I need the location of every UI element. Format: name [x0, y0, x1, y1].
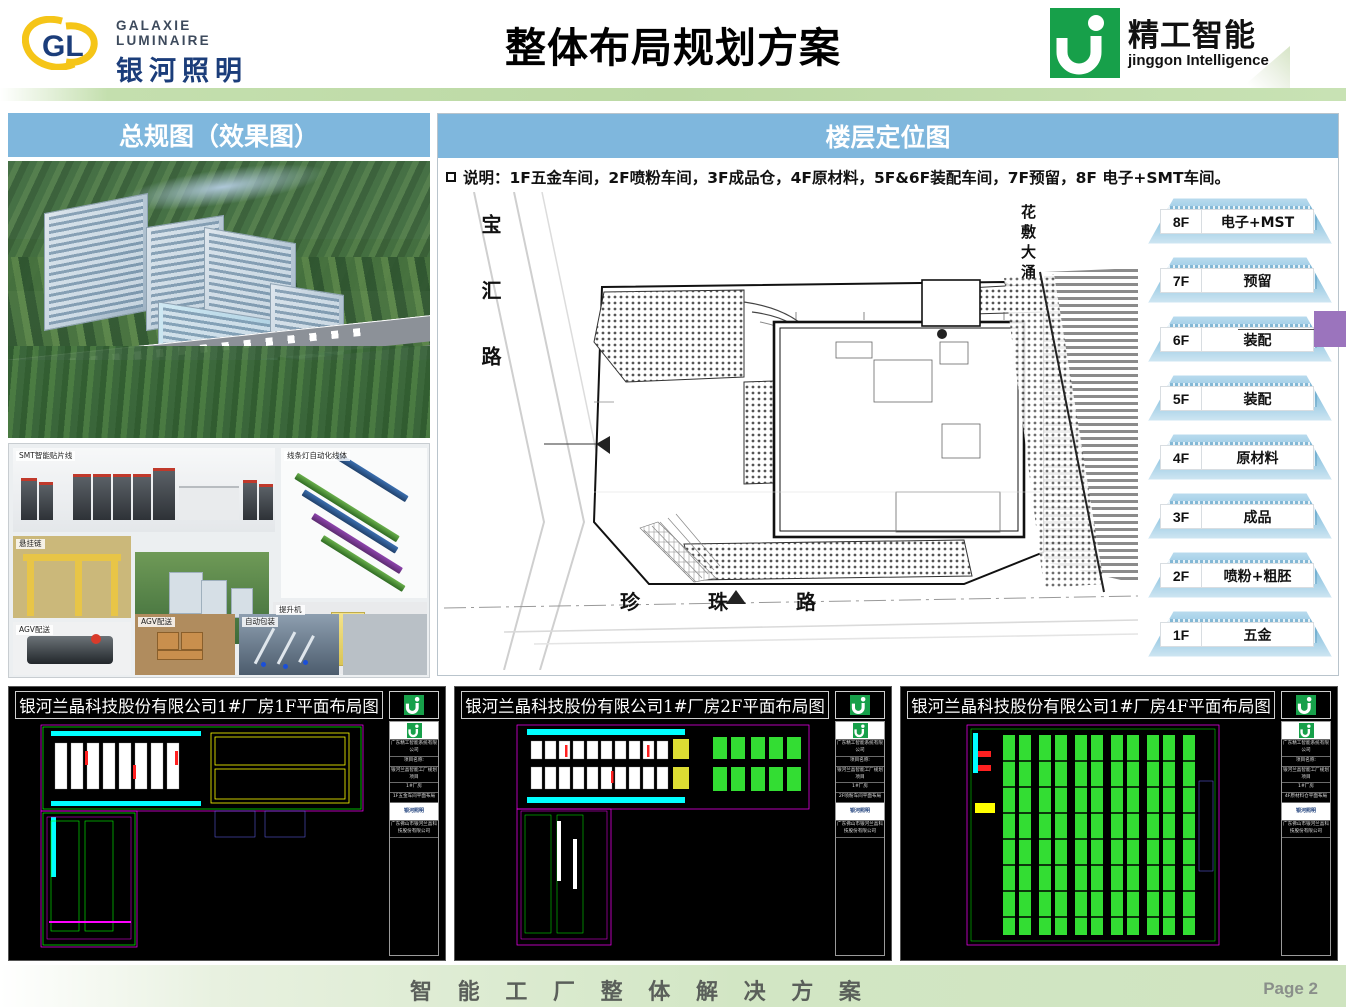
titleblock-owner-logo: 银河照明 — [836, 803, 884, 821]
titleblock-owner-cn: 银河照明 — [850, 808, 870, 816]
floor-level: 8F — [1160, 209, 1202, 234]
floor-usage-note-text: 说明：1F五金车间，2F喷粉车间，3F成品仓，4F原材料，5F&6F装配车间，7… — [463, 169, 1230, 187]
jinggon-logo-cn: 精工智能 — [1128, 10, 1256, 55]
cad-title: 银河兰晶科技股份有限公司1#厂房2F平面布局图 — [461, 691, 829, 719]
titleblock-owner-cn: 银河照明 — [1296, 808, 1316, 816]
overall-plan-heading: 总规图（效果图） — [8, 113, 430, 157]
titleblock-company: 广东精工智能系统有限公司 — [836, 740, 884, 757]
cad-canvas — [907, 721, 1277, 956]
collage-item-agv-vehicle: AGV配送 — [13, 622, 131, 675]
jinggon-j-icon — [404, 695, 424, 715]
slide-footer: 智 能 工 厂 整 体 解 决 方 案 Page 2 — [0, 965, 1346, 1007]
floor-use: 装配 — [1202, 327, 1314, 352]
callout-box: 2#厂房各层功能定位 — [1314, 311, 1346, 347]
callout-leader-line — [1238, 329, 1316, 330]
titleblock-owner-logo: 银河照明 — [1282, 803, 1330, 821]
cad-drawing-1f[interactable]: 银河兰晶科技股份有限公司1#厂房1F平面布局图 广东精工智能系统有限公司 项目名… — [8, 686, 446, 961]
titleblock-project: 银河兰晶智能工厂规划项目 — [836, 767, 884, 784]
floor-row-1f[interactable]: 1F 五金 — [1144, 605, 1336, 663]
collage-item-equipment — [343, 614, 427, 675]
titleblock-owner-logo: 银河照明 — [390, 803, 438, 821]
titleblock-project: 银河兰晶智能工厂规划项目 — [390, 767, 438, 784]
floor-row-2f[interactable]: 2F 喷粉+粗胚 — [1144, 546, 1336, 604]
titleblock-project-label: 项目名称: — [1282, 757, 1330, 767]
collage-item-strip-light-line: 线条灯自动化线体 — [281, 448, 427, 598]
square-bullet-icon — [446, 172, 456, 182]
collage-item-auto-packaging: 自动包装 — [239, 614, 339, 675]
cad-title: 银河兰晶科技股份有限公司1#厂房4F平面布局图 — [907, 691, 1275, 719]
titleblock-project-label: 项目名称: — [836, 757, 884, 767]
titleblock-owner-full: 广东佛山市银河兰晶科技股份有限公司 — [836, 821, 884, 838]
header-divider — [0, 88, 1346, 101]
street-label-baohui: 宝汇路 — [476, 214, 505, 412]
titleblock-company: 广东精工智能系统有限公司 — [1282, 740, 1330, 757]
collage-label: AGV配送 — [138, 617, 175, 627]
slide-header: GL GALAXIE LUMINAIRE 银河照明 整体布局规划方案 精工智能 … — [0, 0, 1346, 88]
floor-usage-note: 说明：1F五金车间，2F喷粉车间，3F成品仓，4F原材料，5F&6F装配车间，7… — [446, 166, 1336, 188]
collage-item-smt-line: SMT智能贴片线 — [13, 448, 275, 532]
cad-titleblock: 广东精工智能系统有限公司 项目名称: 银河兰晶智能工厂规划项目 1#厂房 1F五… — [389, 721, 439, 956]
titleblock-owner-cn: 银河照明 — [404, 808, 424, 816]
cad-canvas — [15, 721, 385, 956]
floor-level: 2F — [1160, 563, 1202, 588]
titleblock-drawing: 4F原材料仓平面布局 — [1282, 793, 1330, 803]
collage-label: AGV配送 — [16, 625, 53, 635]
collage-label: 悬挂链 — [16, 539, 45, 549]
floor-use: 成品 — [1202, 504, 1314, 529]
cad-drawings-row: 银河兰晶科技股份有限公司1#厂房1F平面布局图 广东精工智能系统有限公司 项目名… — [8, 686, 1339, 961]
floor-positioning-panel: 楼层定位图 说明：1F五金车间，2F喷粉车间，3F成品仓，4F原材料，5F&6F… — [437, 113, 1339, 676]
jinggon-logo-en: jinggon Intelligence — [1128, 52, 1269, 69]
titleblock-drawing: 1F五金车间平面布局 — [390, 793, 438, 803]
waterway-label: 花敷大涌 — [1018, 204, 1039, 284]
site-plan-drawing: 宝汇路 珍珠路 花敷大涌 — [444, 192, 1138, 670]
titleblock-project: 银河兰晶智能工厂规划项目 — [1282, 767, 1330, 784]
collage-item-overhead-conveyor: 悬挂链 — [13, 536, 131, 618]
floor-row-7f[interactable]: 7F 预留 — [1144, 251, 1336, 309]
floor-row-3f[interactable]: 3F 成品 — [1144, 487, 1336, 545]
footer-slogan: 智 能 工 厂 整 体 解 决 方 案 — [410, 974, 870, 1006]
jinggon-j-icon — [1050, 8, 1120, 78]
overall-plan-panel: 总规图（效果图） SMT智能贴片线 — [8, 113, 430, 676]
titleblock-logo — [836, 722, 884, 740]
floor-positioning-heading: 楼层定位图 — [438, 114, 1338, 158]
titleblock-project-label: 项目名称: — [390, 757, 438, 767]
collage-label: 线条灯自动化线体 — [284, 451, 350, 461]
titleblock-company: 广东精工智能系统有限公司 — [390, 740, 438, 757]
floor-use: 原材料 — [1202, 445, 1314, 470]
site-render-image — [8, 161, 430, 438]
cad-logo — [389, 691, 439, 719]
collage-label: 自动包装 — [242, 617, 278, 627]
floor-stack: 8F 电子+MST 7F 预留 6F 装配 5F 装配 4F 原 — [1144, 192, 1336, 670]
floor-level: 3F — [1160, 504, 1202, 529]
floor-row-5f[interactable]: 5F 装配 — [1144, 369, 1336, 427]
titleblock-sub: 1#厂房 — [1282, 783, 1330, 793]
collage-label: 提升机 — [276, 605, 305, 615]
floor-use: 电子+MST — [1202, 209, 1314, 234]
cad-drawing-4f[interactable]: 银河兰晶科技股份有限公司1#厂房4F平面布局图 广东精工智能系统有限公司 项目名… — [900, 686, 1338, 961]
floor-level: 5F — [1160, 386, 1202, 411]
collage-label: SMT智能贴片线 — [16, 451, 75, 461]
floor-row-6f[interactable]: 6F 装配 — [1144, 310, 1336, 368]
collage-item-agv-pallet: AGV配送 — [135, 614, 235, 675]
titleblock-sub: 1#厂房 — [836, 783, 884, 793]
cad-titleblock: 广东精工智能系统有限公司 项目名称: 银河兰晶智能工厂规划项目 1#厂房 4F原… — [1281, 721, 1331, 956]
titleblock-logo — [390, 722, 438, 740]
jinggon-j-icon — [1296, 695, 1316, 715]
floor-use: 喷粉+粗胚 — [1202, 563, 1314, 588]
cad-drawing-2f[interactable]: 银河兰晶科技股份有限公司1#厂房2F平面布局图 广东精工智能系统有限公司 项目名… — [454, 686, 892, 961]
titleblock-drawing: 2F喷粉车间平面布局 — [836, 793, 884, 803]
titleblock-logo — [1282, 722, 1330, 740]
cad-logo — [835, 691, 885, 719]
footer-page-number: Page 2 — [1263, 979, 1318, 999]
floor-level: 4F — [1160, 445, 1202, 470]
floor-level: 6F — [1160, 327, 1202, 352]
floor-row-8f[interactable]: 8F 电子+MST — [1144, 192, 1336, 250]
cad-logo — [1281, 691, 1331, 719]
jinggon-j-icon — [850, 695, 870, 715]
floor-row-4f[interactable]: 4F 原材料 — [1144, 428, 1336, 486]
cad-canvas — [461, 721, 831, 956]
floor-use: 预留 — [1202, 268, 1314, 293]
floor-use: 装配 — [1202, 386, 1314, 411]
floor-level: 7F — [1160, 268, 1202, 293]
floor-level: 1F — [1160, 622, 1202, 647]
titleblock-owner-full: 广东佛山市银河兰晶科技股份有限公司 — [390, 821, 438, 838]
street-label-zhenzhu: 珍珠路 — [620, 586, 884, 615]
jinggon-logo: 精工智能 jinggon Intelligence — [1050, 8, 1290, 78]
titleblock-sub: 1#厂房 — [390, 783, 438, 793]
cad-title: 银河兰晶科技股份有限公司1#厂房1F平面布局图 — [15, 691, 383, 719]
titleblock-owner-full: 广东佛山市银河兰晶科技股份有限公司 — [1282, 821, 1330, 838]
slide-root: GL GALAXIE LUMINAIRE 银河照明 整体布局规划方案 精工智能 … — [0, 0, 1346, 1007]
cad-titleblock: 广东精工智能系统有限公司 项目名称: 银河兰晶智能工厂规划项目 1#厂房 2F喷… — [835, 721, 885, 956]
technology-collage: SMT智能贴片线 线条灯自动化线体 悬 — [8, 443, 430, 678]
floor-use: 五金 — [1202, 622, 1314, 647]
